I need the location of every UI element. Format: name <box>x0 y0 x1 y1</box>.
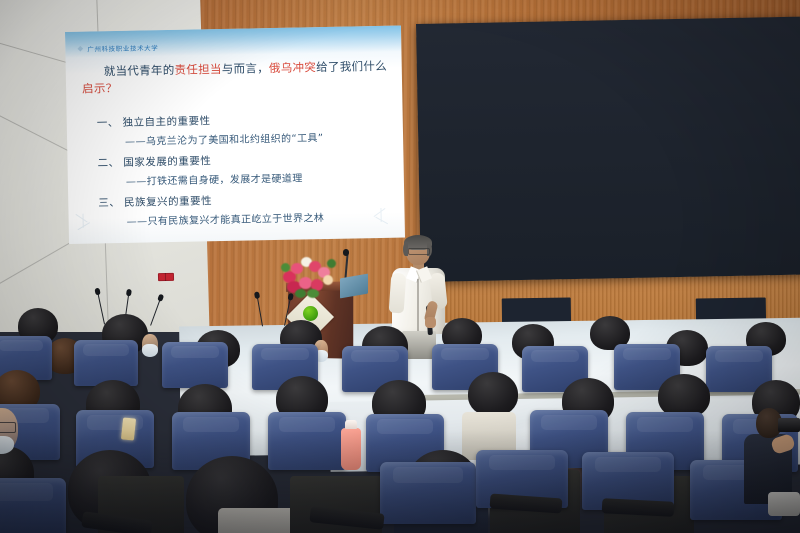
slide-title-highlight: 俄乌冲突 <box>269 60 316 75</box>
slide-ornament-icon <box>74 211 100 237</box>
flower-arrangement <box>281 253 337 299</box>
slide-point-3-detail: ——只有民族复兴才能真正屹立于世界之林 <box>126 209 324 228</box>
slide-title-text: 给了我们什么 <box>316 59 387 74</box>
projection-screen: 广州科技职业技术大学 就当代青年的责任担当与而言，俄乌冲突给了我们什么启示？ 一… <box>65 26 405 244</box>
slide-point-1-detail: ——乌克兰沦为了美国和北约组织的“工具” <box>125 129 324 148</box>
slide-point-2-detail: ——打铁还需自身硬，发展才是硬道理 <box>126 169 303 187</box>
slide-title-text: 与而言， <box>222 61 269 76</box>
water-bottle <box>341 428 361 470</box>
projection-screen-frame <box>416 17 800 282</box>
slide-title-highlight: 责任担当 <box>174 62 221 77</box>
slide-point-3: 三、 民族复兴的重要性 <box>98 193 212 210</box>
auditorium-seat <box>0 478 66 533</box>
auditorium-seat <box>74 340 138 386</box>
auditorium-seat <box>380 462 476 524</box>
audience-head <box>468 372 518 416</box>
slide-ornament-icon <box>372 206 398 232</box>
slide-title: 就当代青年的责任担当与而言，俄乌冲突给了我们什么启示？ <box>82 58 389 98</box>
eyeglasses-icon <box>0 422 16 433</box>
audience-torso <box>218 508 298 533</box>
auditorium-seat <box>268 412 346 470</box>
audience-seating <box>0 300 800 533</box>
auditorium-seat <box>162 342 228 388</box>
lecture-hall-photo: 广州科技职业技术大学 就当代青年的责任担当与而言，俄乌冲突给了我们什么启示？ 一… <box>0 0 800 533</box>
photographer <box>742 400 800 533</box>
podium-microphone-head-icon <box>343 249 349 256</box>
slide-header-institution: 广州科技职业技术大学 <box>87 42 158 53</box>
screen-glow <box>65 26 401 58</box>
smartphone <box>121 417 136 440</box>
water-bottle-cap <box>345 420 357 429</box>
camera-icon <box>778 418 800 432</box>
face-mask <box>142 344 158 357</box>
slide-point-1: 一、 独立自主的重要性 <box>97 113 211 130</box>
slide-title-text: 就当代青年的 <box>104 63 175 78</box>
wall-socket-icon <box>158 273 174 281</box>
presenter-glasses-icon <box>408 248 430 255</box>
photographer-shirt <box>768 492 800 516</box>
slide-title-highlight: 启示？ <box>82 81 118 96</box>
slide-point-2: 二、 国家发展的重要性 <box>97 153 211 170</box>
